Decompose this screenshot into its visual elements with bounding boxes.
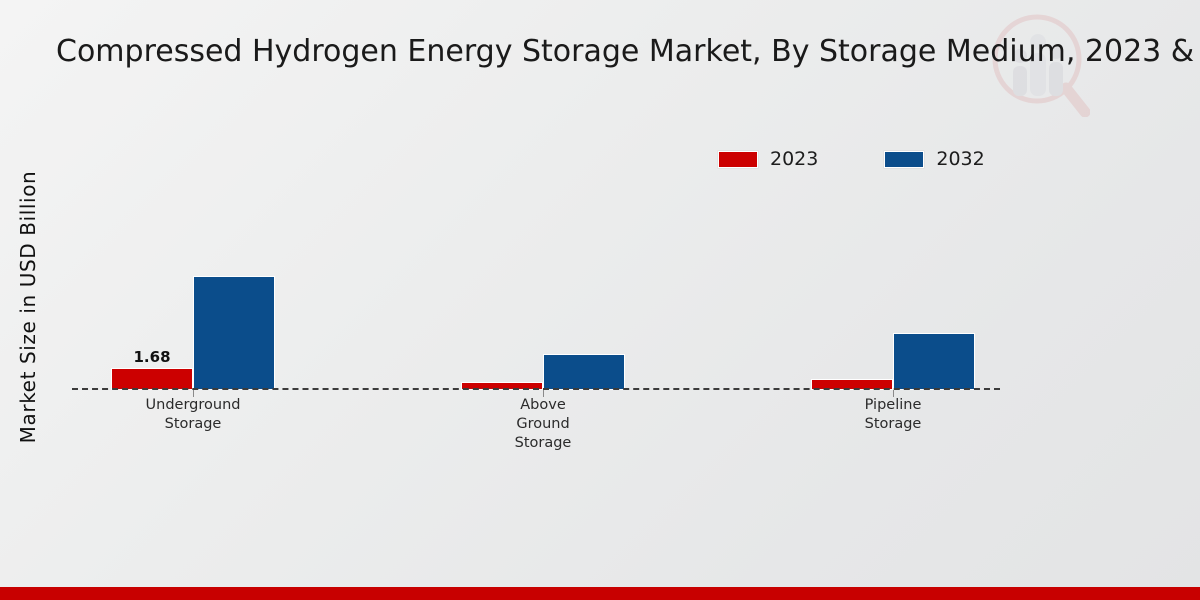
bar-slot: [893, 180, 975, 390]
legend-label-2032: 2032: [936, 148, 984, 170]
category-label: AboveGroundStorage: [433, 396, 653, 453]
category-label-line: Ground: [433, 415, 653, 434]
bar-slot: [193, 180, 275, 390]
legend-swatch-2032: [884, 151, 924, 168]
bar-group: [811, 180, 975, 390]
category-label-line: Storage: [783, 415, 1003, 434]
bar-2032-2[interactable]: [893, 333, 975, 390]
category-label-line: Pipeline: [783, 396, 1003, 415]
bar-group: [461, 180, 625, 390]
category-label-line: Above: [433, 396, 653, 415]
legend-label-2023: 2023: [770, 148, 818, 170]
category-label-line: Underground: [83, 396, 303, 415]
footer-accent-bar: [0, 587, 1200, 600]
bar-slot: 1.68: [111, 180, 193, 390]
bar-2032-1[interactable]: [543, 354, 625, 390]
chart-legend: 2023 2032: [718, 148, 985, 170]
category-label-line: Storage: [83, 415, 303, 434]
bar-value-label: 1.68: [133, 348, 170, 366]
bar-slot: [811, 180, 893, 390]
y-axis-title: Market Size in USD Billion: [16, 132, 40, 482]
chart-title: Compressed Hydrogen Energy Storage Marke…: [56, 34, 1200, 69]
legend-item-2023[interactable]: 2023: [718, 148, 818, 170]
axis-baseline: [72, 388, 1000, 390]
bar-group: 1.68: [111, 180, 275, 390]
legend-item-2032[interactable]: 2032: [884, 148, 984, 170]
category-label-line: Storage: [433, 434, 653, 453]
category-label: PipelineStorage: [783, 396, 1003, 434]
chart-canvas: Compressed Hydrogen Energy Storage Marke…: [0, 0, 1200, 600]
category-label: UndergroundStorage: [83, 396, 303, 434]
bar-2023-0[interactable]: 1.68: [111, 368, 193, 390]
legend-swatch-2023: [718, 151, 758, 168]
bar-slot: [461, 180, 543, 390]
bar-2032-0[interactable]: [193, 276, 275, 390]
bar-slot: [543, 180, 625, 390]
plot-area: 1.68: [72, 180, 1000, 390]
